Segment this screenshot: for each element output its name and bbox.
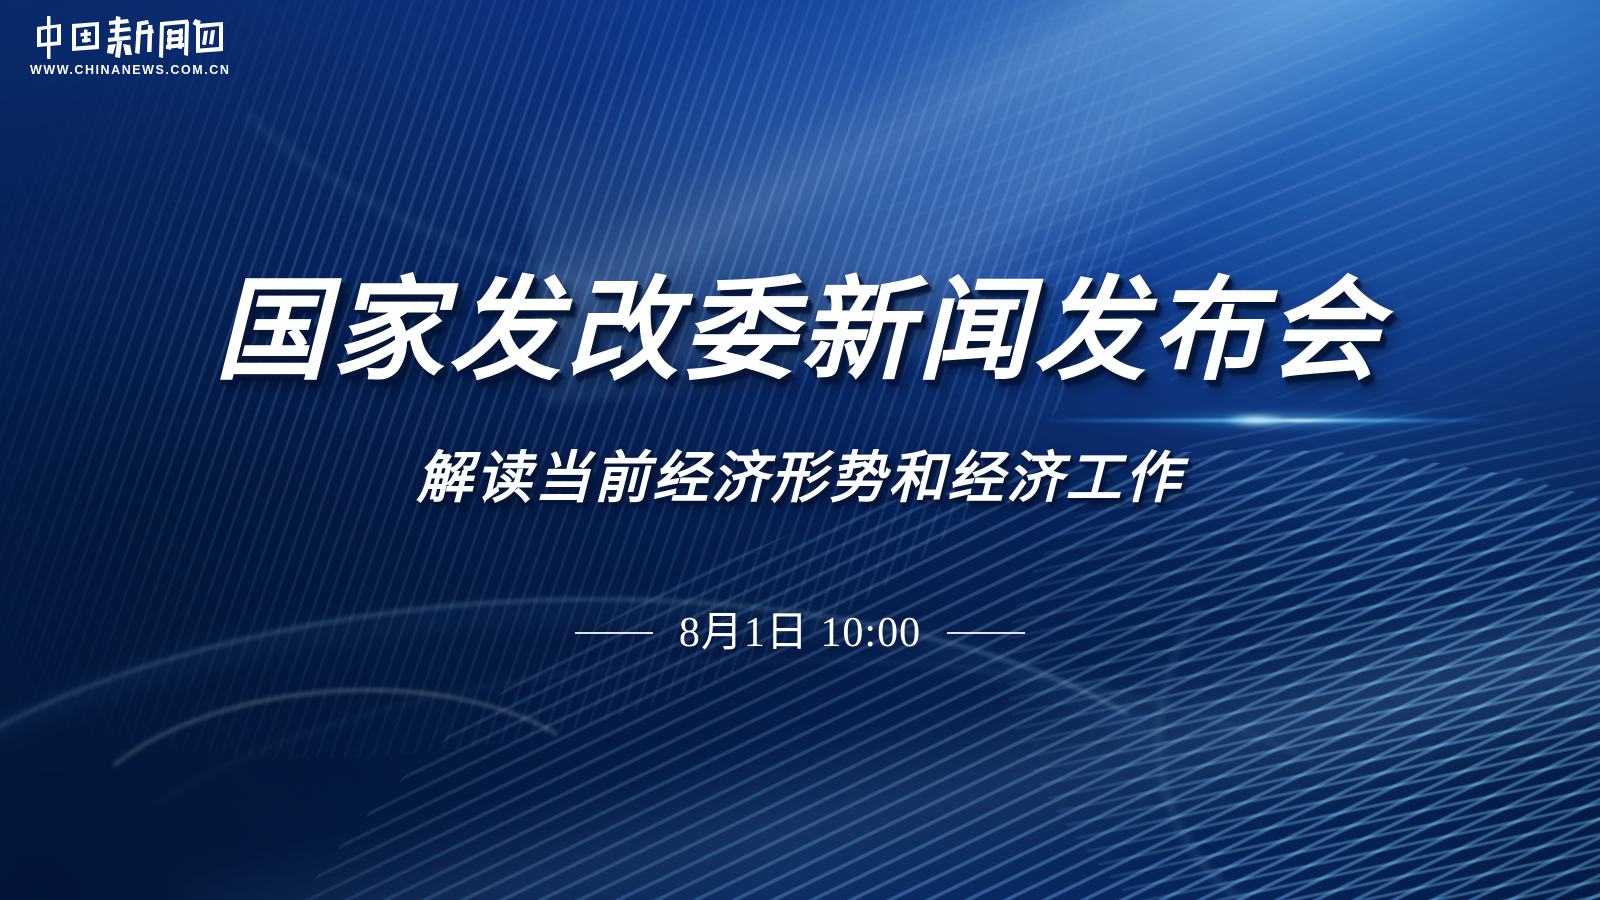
press-conference-poster: WWW.CHINANEWS.COM.CN 国家发改委新闻发布会 解读当前经济形势… [0, 0, 1600, 900]
page-subtitle: 解读当前经济形势和经济工作 [0, 447, 1600, 509]
datetime-row: 8月1日 10:00 [0, 612, 1600, 654]
page-title: 国家发改委新闻发布会 [0, 272, 1600, 390]
datetime-label: 8月1日 10:00 [679, 612, 921, 654]
poster-content: 国家发改委新闻发布会 解读当前经济形势和经济工作 8月1日 10:00 [0, 0, 1600, 900]
datetime-rule-left [575, 632, 653, 634]
datetime-rule-right [947, 632, 1025, 634]
